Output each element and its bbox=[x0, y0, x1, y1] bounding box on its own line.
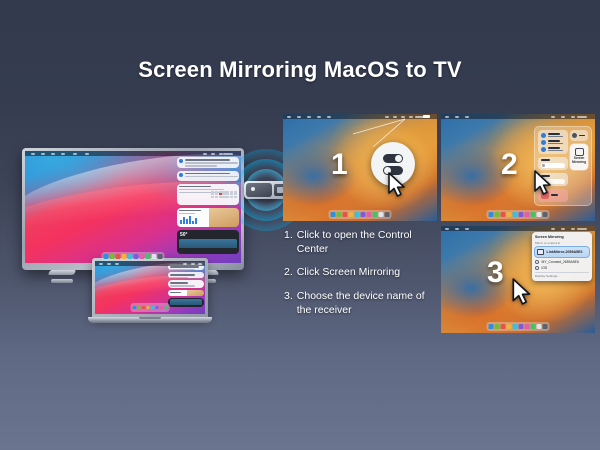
sm-option-label-0: MY_Connect_2659A5E6 bbox=[542, 260, 579, 264]
step-panel-1[interactable]: 1 bbox=[283, 114, 437, 221]
radio-icon-0 bbox=[535, 260, 539, 264]
cc-screen-mirroring-tile[interactable]: Screen Mirroring bbox=[570, 144, 588, 170]
sm-selected-device[interactable]: LinkMirror-2059A5E6 bbox=[535, 247, 589, 257]
sm-option-label-1: iOS bbox=[542, 266, 548, 270]
fitness-widget bbox=[177, 208, 239, 228]
instruction-item-2: 2. Click Screen Mirroring bbox=[284, 265, 436, 279]
macbook-widget-panel bbox=[168, 264, 204, 307]
notification-widget-2 bbox=[177, 171, 239, 181]
step-panel-2[interactable]: 2 bbox=[441, 114, 595, 221]
cc-airdrop-item[interactable] bbox=[541, 147, 566, 152]
control-center-icon[interactable] bbox=[423, 115, 430, 119]
step-panel-3[interactable]: 3 Screen Mirroring Mirror or extend to L… bbox=[441, 226, 595, 333]
notification-dot-icon bbox=[179, 159, 183, 163]
tv-bezel: 50° bbox=[22, 148, 244, 270]
step3-menubar bbox=[441, 226, 595, 231]
cc-display-slider[interactable] bbox=[538, 157, 568, 171]
tv-display: 50° bbox=[22, 148, 244, 270]
wifi-icon bbox=[541, 133, 546, 138]
airdrop-icon bbox=[541, 147, 546, 152]
step-number-2: 2 bbox=[501, 150, 518, 180]
step2-menubar bbox=[441, 114, 595, 119]
macbook-notch bbox=[139, 317, 161, 319]
instruction-number-1: 1. bbox=[284, 228, 293, 256]
sm-option-1[interactable]: iOS bbox=[535, 266, 589, 270]
radio-icon-1 bbox=[535, 266, 539, 270]
sm-option-0[interactable]: MY_Connect_2659A5E6 bbox=[535, 260, 589, 264]
dongle-body bbox=[244, 181, 288, 199]
sm-menu-subtitle: Mirror or extend to bbox=[535, 241, 589, 245]
toggle-switch-on-icon bbox=[383, 154, 403, 163]
screen-mirroring-icon bbox=[575, 148, 584, 156]
mb-photo-widget bbox=[168, 290, 204, 296]
step1-dock[interactable] bbox=[329, 210, 392, 219]
cc-bluetooth-item[interactable] bbox=[541, 140, 566, 145]
calendar-widget bbox=[177, 184, 239, 205]
step2-dock[interactable] bbox=[487, 210, 550, 219]
mb-calendar-widget bbox=[168, 280, 204, 288]
step3-dock[interactable] bbox=[487, 322, 550, 331]
photo-widget bbox=[209, 208, 239, 228]
macbook-base bbox=[88, 317, 212, 323]
mb-notification-widget-2 bbox=[168, 272, 204, 278]
tv-widget-panel: 50° bbox=[177, 157, 239, 254]
mouse-cursor-icon-2 bbox=[533, 170, 555, 196]
tv-device-icon bbox=[537, 249, 544, 255]
instruction-text-3: Choose the device name of the receiver bbox=[297, 289, 436, 317]
mouse-cursor-icon-3 bbox=[511, 278, 535, 306]
instruction-text-2: Click Screen Mirroring bbox=[297, 265, 400, 279]
notification-dot-icon-2 bbox=[179, 173, 183, 177]
macbook-lid bbox=[92, 258, 208, 318]
page-title: Screen Mirroring MacOS to TV bbox=[0, 57, 600, 83]
focus-icon bbox=[572, 133, 577, 138]
cc-wifi-item[interactable] bbox=[541, 133, 566, 138]
sm-footer-link[interactable]: Display Settings... bbox=[535, 272, 589, 279]
weather-widget: 50° bbox=[177, 230, 239, 254]
tv-screen: 50° bbox=[25, 151, 241, 263]
step-number-1: 1 bbox=[331, 150, 348, 180]
tv-leg-left bbox=[49, 270, 75, 288]
instruction-text-1: Click to open the Control Center bbox=[297, 228, 436, 256]
instruction-number-3: 3. bbox=[284, 289, 293, 317]
fitness-stats bbox=[177, 208, 209, 228]
instruction-list: 1. Click to open the Control Center 2. C… bbox=[284, 228, 436, 326]
cc-focus-tile[interactable] bbox=[570, 130, 588, 141]
instruction-number-2: 2. bbox=[284, 265, 293, 279]
mb-weather-widget bbox=[168, 298, 204, 307]
tv-menubar bbox=[25, 151, 241, 156]
cc-connectivity-tile[interactable] bbox=[538, 130, 568, 154]
cc-screen-mirroring-label: Screen Mirroring bbox=[570, 157, 588, 164]
macbook-display bbox=[88, 258, 212, 326]
bluetooth-icon bbox=[541, 140, 546, 145]
macbook-menubar bbox=[95, 261, 205, 266]
fitness-bars bbox=[180, 215, 197, 224]
instruction-item-3: 3. Choose the device name of the receive… bbox=[284, 289, 436, 317]
tv-dock[interactable] bbox=[102, 252, 165, 261]
mouse-cursor-icon bbox=[387, 172, 409, 198]
notification-widget bbox=[177, 157, 239, 168]
step-number-3: 3 bbox=[487, 258, 504, 288]
macbook-dock[interactable] bbox=[131, 303, 170, 312]
weather-chart bbox=[179, 239, 237, 248]
weather-temp: 50° bbox=[180, 232, 188, 238]
sm-device-name: LinkMirror-2059A5E6 bbox=[547, 250, 583, 254]
screen-mirroring-menu[interactable]: Screen Mirroring Mirror or extend to Lin… bbox=[532, 232, 592, 281]
sm-menu-title: Screen Mirroring bbox=[535, 235, 589, 239]
macbook-screen bbox=[95, 261, 205, 314]
instruction-item-1: 1. Click to open the Control Center bbox=[284, 228, 436, 256]
calendar-grid bbox=[211, 191, 237, 198]
